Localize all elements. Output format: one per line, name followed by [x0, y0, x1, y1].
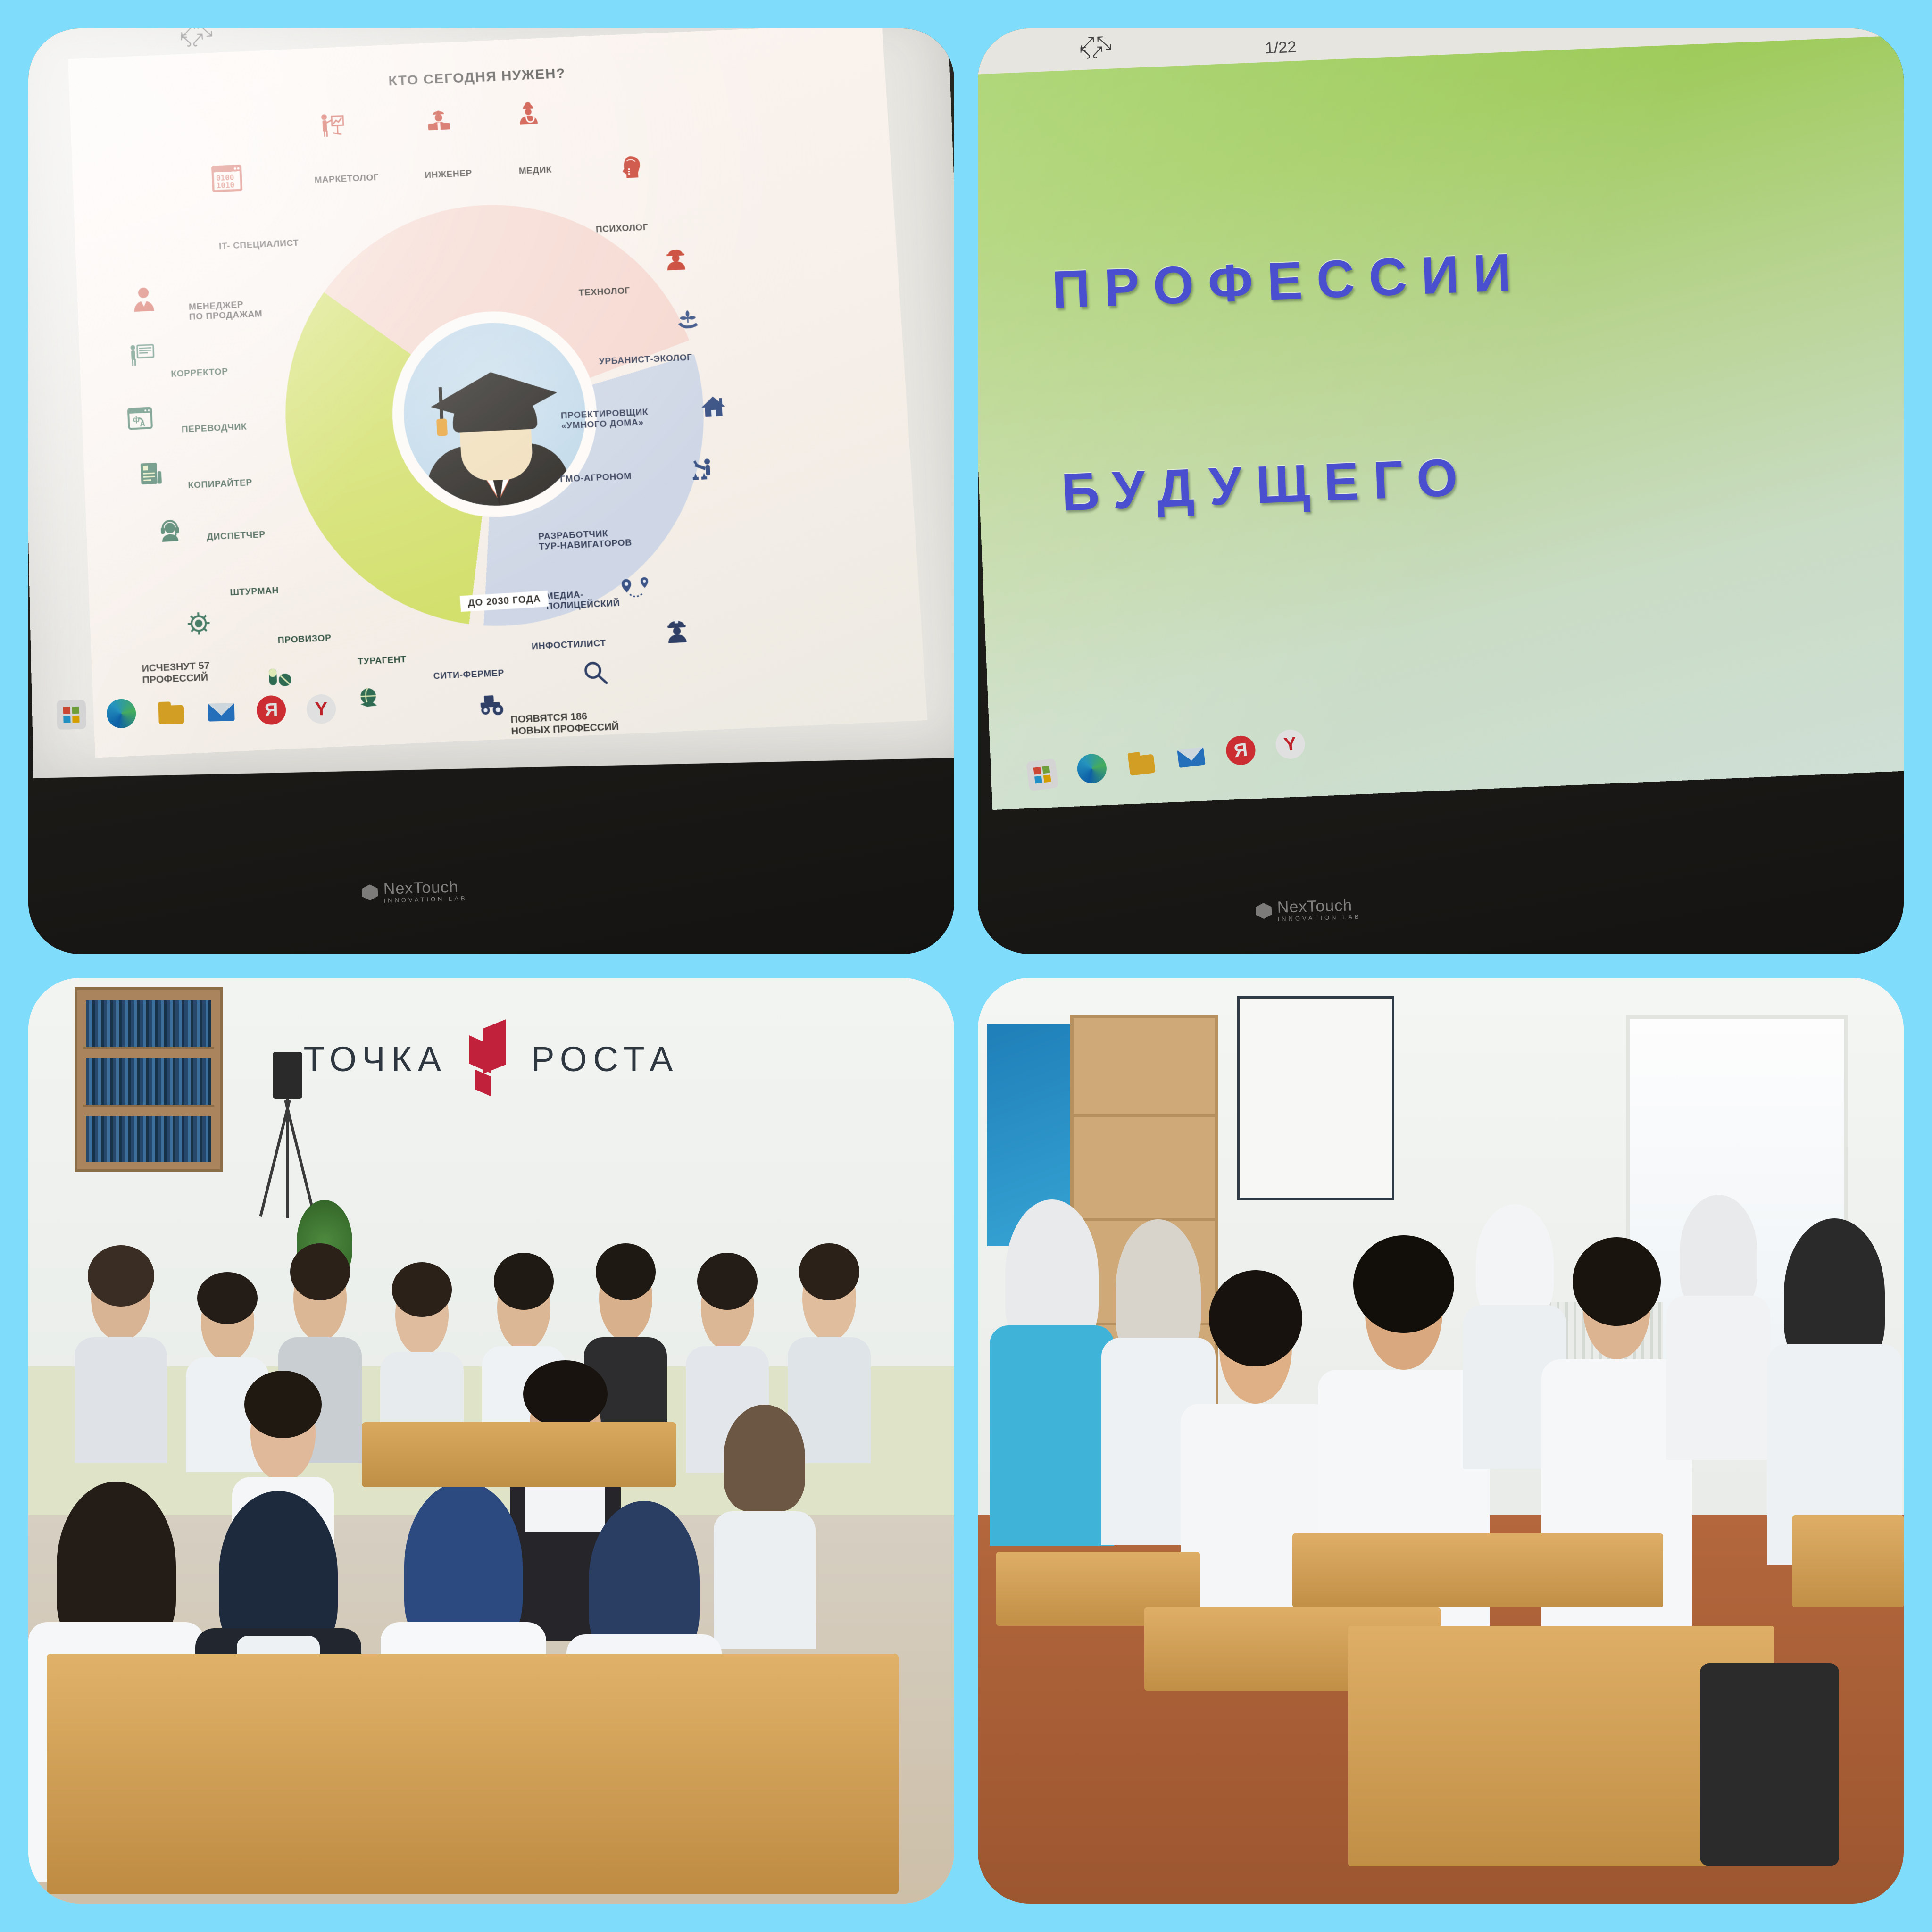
- farmer-icon: [687, 457, 715, 483]
- profession-label-smart-home-designer: ПРОЕКТИРОВЩИК «УМНОГО ДОМА»: [561, 407, 650, 431]
- windows-start-icon[interactable]: [1026, 758, 1058, 791]
- profession-label-shturman: ШТУРМАН: [230, 586, 280, 598]
- svg-text:ф: ф: [133, 416, 141, 424]
- yandex-browser-icon[interactable]: Y: [306, 694, 336, 724]
- profession-label-marketolog: МАРКЕТОЛОГ: [315, 172, 380, 185]
- profession-label-psiholog: ПСИХОЛОГ: [596, 223, 649, 235]
- engineer-icon: [426, 107, 453, 133]
- fullscreen-arrows-icon[interactable]: ⤢⤡⤣⤤: [180, 28, 206, 50]
- student-side-7: [1672, 1209, 1765, 1450]
- future-professions-infographic: КТО СЕГОДНЯ НУЖЕН?: [68, 28, 928, 758]
- yandex-browser-icon[interactable]: Y: [1274, 728, 1307, 760]
- note-disappearing-professions: ИСЧЕЗНУТ 57 ПРОФЕССИЙ: [142, 660, 211, 686]
- panel-board-letters: ⤢⤡⤣⤤ 1/22 ПРОФЕССИИ БУДУЩЕГО Я Y NexTouc…: [978, 28, 1904, 954]
- desk-side-4: [1792, 1515, 1904, 1607]
- police-officer-icon: [664, 617, 691, 644]
- house-icon: [700, 393, 727, 420]
- file-explorer-icon[interactable]: [156, 697, 186, 727]
- desk-front: [47, 1654, 899, 1894]
- pills-icon: [266, 663, 293, 691]
- profession-label-provizor: ПРОВИЗОР: [278, 633, 332, 646]
- student-mid-3: [714, 1422, 816, 1644]
- tochka-rosta-logo: ТОЧКА РОСТА: [304, 1024, 679, 1094]
- file-explorer-icon[interactable]: [1125, 746, 1158, 779]
- windows-start-icon[interactable]: [57, 700, 86, 729]
- wall-poster: [1237, 996, 1395, 1200]
- nextouch-cube-icon: [361, 884, 378, 901]
- manager-icon: [131, 286, 157, 313]
- desk-side-3: [1292, 1533, 1663, 1607]
- student-side-1: [996, 1218, 1108, 1533]
- profession-label-medik: МЕДИК: [519, 165, 552, 176]
- tochka-rosta-word-left: ТОЧКА: [304, 1039, 448, 1079]
- student-side-8: [1774, 1237, 1894, 1552]
- fullscreen-arrows-icon[interactable]: ⤢⤡⤣⤤: [1079, 38, 1114, 58]
- proofreader-icon: [129, 342, 155, 369]
- graduate-cap-icon: [428, 365, 561, 433]
- tochka-rosta-mark-icon: [469, 1024, 509, 1094]
- edge-browser-icon[interactable]: [1076, 752, 1108, 785]
- map-pin-route-icon: [620, 576, 655, 604]
- profession-label-tour-navigator-developer: РАЗРАБОТЧИК ТУР-НАВИГАТОРОВ: [538, 527, 633, 552]
- photo-collage: ⤢⤡⤣⤤ КТО СЕГОДНЯ НУЖЕН?: [0, 0, 1932, 1932]
- profession-label-perevodchik: ПЕРЕВОДЧИК: [182, 422, 247, 435]
- document-pen-icon: [138, 460, 165, 487]
- yandex-icon[interactable]: Я: [1224, 734, 1257, 766]
- profession-label-kopirayter: КОПИРАЙТЕР: [188, 477, 253, 491]
- camera-icon: [273, 1052, 302, 1099]
- professions-wheel: [276, 196, 716, 635]
- brain-head-icon: [616, 154, 643, 180]
- hand-sprout-icon: [675, 307, 701, 334]
- edge-browser-icon[interactable]: [107, 699, 136, 728]
- student-back-1: [75, 1256, 167, 1459]
- profession-label-media-policeman: МЕДИА- ПОЛИЦЕЙСКИЙ: [546, 588, 621, 612]
- chair: [1700, 1663, 1839, 1867]
- profession-label-infostylist: ИНФОСТИЛИСТ: [532, 638, 607, 652]
- nextouch-logo-2: NexTouch INNOVATION LAB: [1255, 896, 1361, 923]
- interactive-board-screen[interactable]: ⤢⤡⤣⤤ КТО СЕГОДНЯ НУЖЕН?: [28, 28, 954, 778]
- mail-icon[interactable]: [206, 696, 236, 726]
- headset-operator-icon: [157, 516, 183, 543]
- ship-wheel-icon: [185, 610, 212, 637]
- magnifier-icon: [583, 659, 610, 687]
- profession-label-turagent: ТУРАГЕНТ: [358, 654, 407, 667]
- profession-label-inzhener: ИНЖЕНЕР: [425, 168, 473, 181]
- presenter-icon: [320, 112, 346, 138]
- doctor-icon: [516, 100, 542, 126]
- profession-label-manager: МЕНЕДЖЕР ПО ПРОДАЖАМ: [189, 299, 263, 322]
- desk-mid: [362, 1422, 676, 1487]
- nextouch-logo: NexTouch INNOVATION LAB: [361, 878, 467, 905]
- profession-label-it-specialist: IT- СПЕЦИАЛИСТ: [219, 238, 300, 252]
- worker-icon: [663, 245, 690, 272]
- slide-page-indicator: 1/22: [1265, 38, 1297, 58]
- translate-window-icon: фA: [127, 405, 154, 432]
- profession-label-korrektor: КОРРЕКТОР: [171, 366, 229, 379]
- tochka-rosta-word-right: РОСТА: [531, 1039, 679, 1079]
- yandex-icon[interactable]: Я: [256, 695, 286, 724]
- panel-board-infographic: ⤢⤡⤣⤤ КТО СЕГОДНЯ НУЖЕН?: [28, 28, 954, 954]
- nextouch-cube-icon: [1255, 903, 1272, 919]
- profession-label-city-farmer: СИТИ-ФЕРМЕР: [433, 668, 505, 682]
- panel-classroom-front: ТОЧКА РОСТА: [28, 978, 954, 1904]
- binary-window-icon: 01001010: [212, 165, 243, 192]
- infographic-title: КТО СЕГОДНЯ НУЖЕН?: [69, 51, 885, 104]
- panel-classroom-side: [978, 978, 1904, 1904]
- camera-tripod: [269, 1052, 306, 1218]
- mail-icon[interactable]: [1175, 740, 1207, 773]
- bookshelf: [75, 987, 223, 1173]
- profession-label-dispetcher: ДИСПЕТЧЕР: [207, 530, 266, 542]
- svg-text:1010: 1010: [217, 181, 235, 191]
